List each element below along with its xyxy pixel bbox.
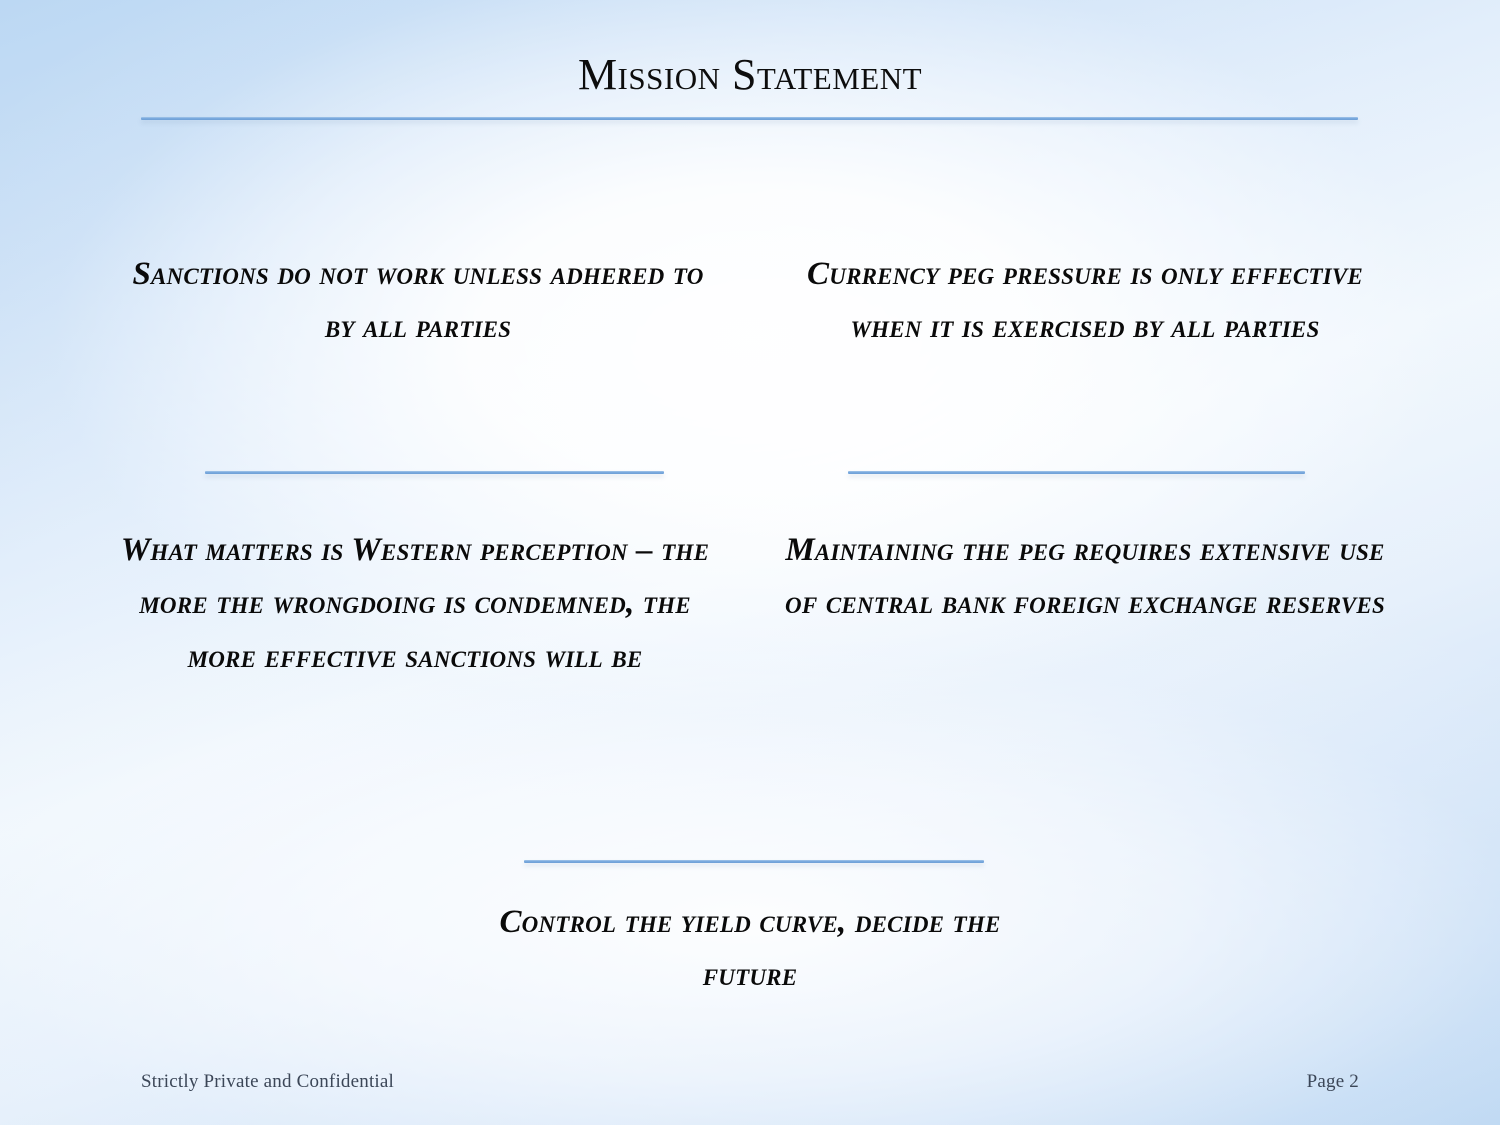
footer-confidentiality-notice: Strictly Private and Confidential <box>141 1071 394 1093</box>
statement-top-right: Currency peg pressure is only effective … <box>785 248 1385 355</box>
page-title: Mission Statement <box>0 52 1500 98</box>
title-block: Mission Statement <box>0 52 1500 98</box>
divider-rule-right-column <box>848 471 1305 474</box>
title-divider-rule <box>141 117 1358 120</box>
divider-rule-bottom-center <box>524 860 984 863</box>
statement-top-left: Sanctions do not work unless adhered to … <box>118 248 718 355</box>
divider-rule-left-column <box>205 471 664 474</box>
statement-bottom-center: Control the yield curve, decide the futu… <box>450 896 1050 1003</box>
statement-bottom-right: Maintaining the peg requires extensive u… <box>785 524 1385 631</box>
statement-bottom-left: What matters is Western perception – the… <box>104 524 726 684</box>
footer-page-number: Page 2 <box>1307 1071 1359 1093</box>
slide-canvas: Mission Statement Sanctions do not work … <box>0 0 1500 1125</box>
